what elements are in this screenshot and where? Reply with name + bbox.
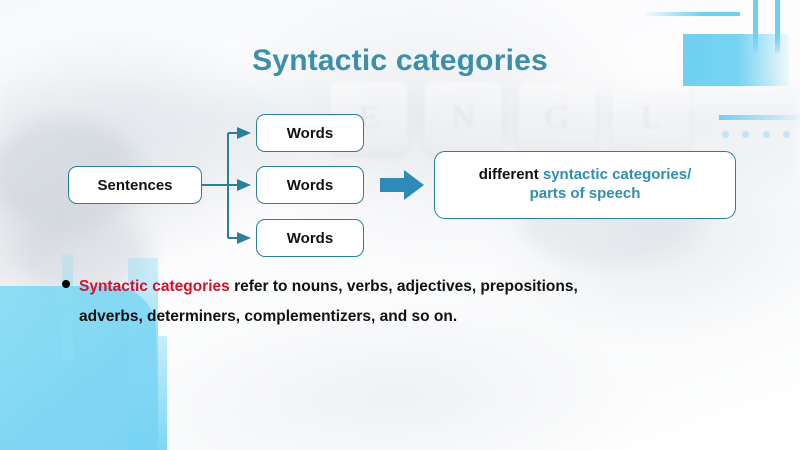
bullet-rest: refer to nouns, verbs, adjectives, prepo… (230, 278, 578, 295)
decor-top-line (645, 12, 740, 16)
bullet-text-line-1: Syntactic categories refer to nouns, ver… (79, 278, 578, 296)
bullet-marker-icon (62, 280, 70, 288)
node-result-plain: different (479, 166, 543, 183)
slide-canvas: E N G L Syntactic categories (0, 0, 800, 450)
decor-right-line (719, 115, 800, 120)
bullet-highlight: Syntactic categories (79, 278, 230, 295)
decor-bottom-bar-3 (158, 336, 167, 450)
node-words-3[interactable]: Words (256, 219, 364, 257)
bullet-text-line-2: adverbs, determiners, complementizers, a… (79, 308, 702, 326)
node-result-accent-2: parts of speech (530, 185, 641, 202)
bullet-line-1: Syntactic categories refer to nouns, ver… (62, 278, 702, 296)
decor-dot (722, 131, 729, 138)
slide-title: Syntactic categories (0, 44, 800, 78)
decor-dot (783, 131, 790, 138)
node-words-2[interactable]: Words (256, 166, 364, 204)
decor-dot-row (722, 131, 790, 139)
decor-dot (742, 131, 749, 138)
node-words-1[interactable]: Words (256, 114, 364, 152)
background-keycaps: E N G L (330, 82, 690, 154)
decor-dot (763, 131, 770, 138)
keycap-n: N (424, 82, 502, 154)
node-sentences[interactable]: Sentences (68, 166, 202, 204)
keycap-g: G (518, 82, 596, 154)
node-result[interactable]: different syntactic categories/ parts of… (434, 151, 736, 219)
bullet-block: Syntactic categories refer to nouns, ver… (62, 278, 702, 326)
keycap-l: L (612, 82, 690, 154)
node-result-line-1: different syntactic categories/ (479, 166, 692, 185)
node-result-line-2: parts of speech (530, 185, 641, 204)
node-result-accent-1: syntactic categories/ (543, 166, 691, 183)
